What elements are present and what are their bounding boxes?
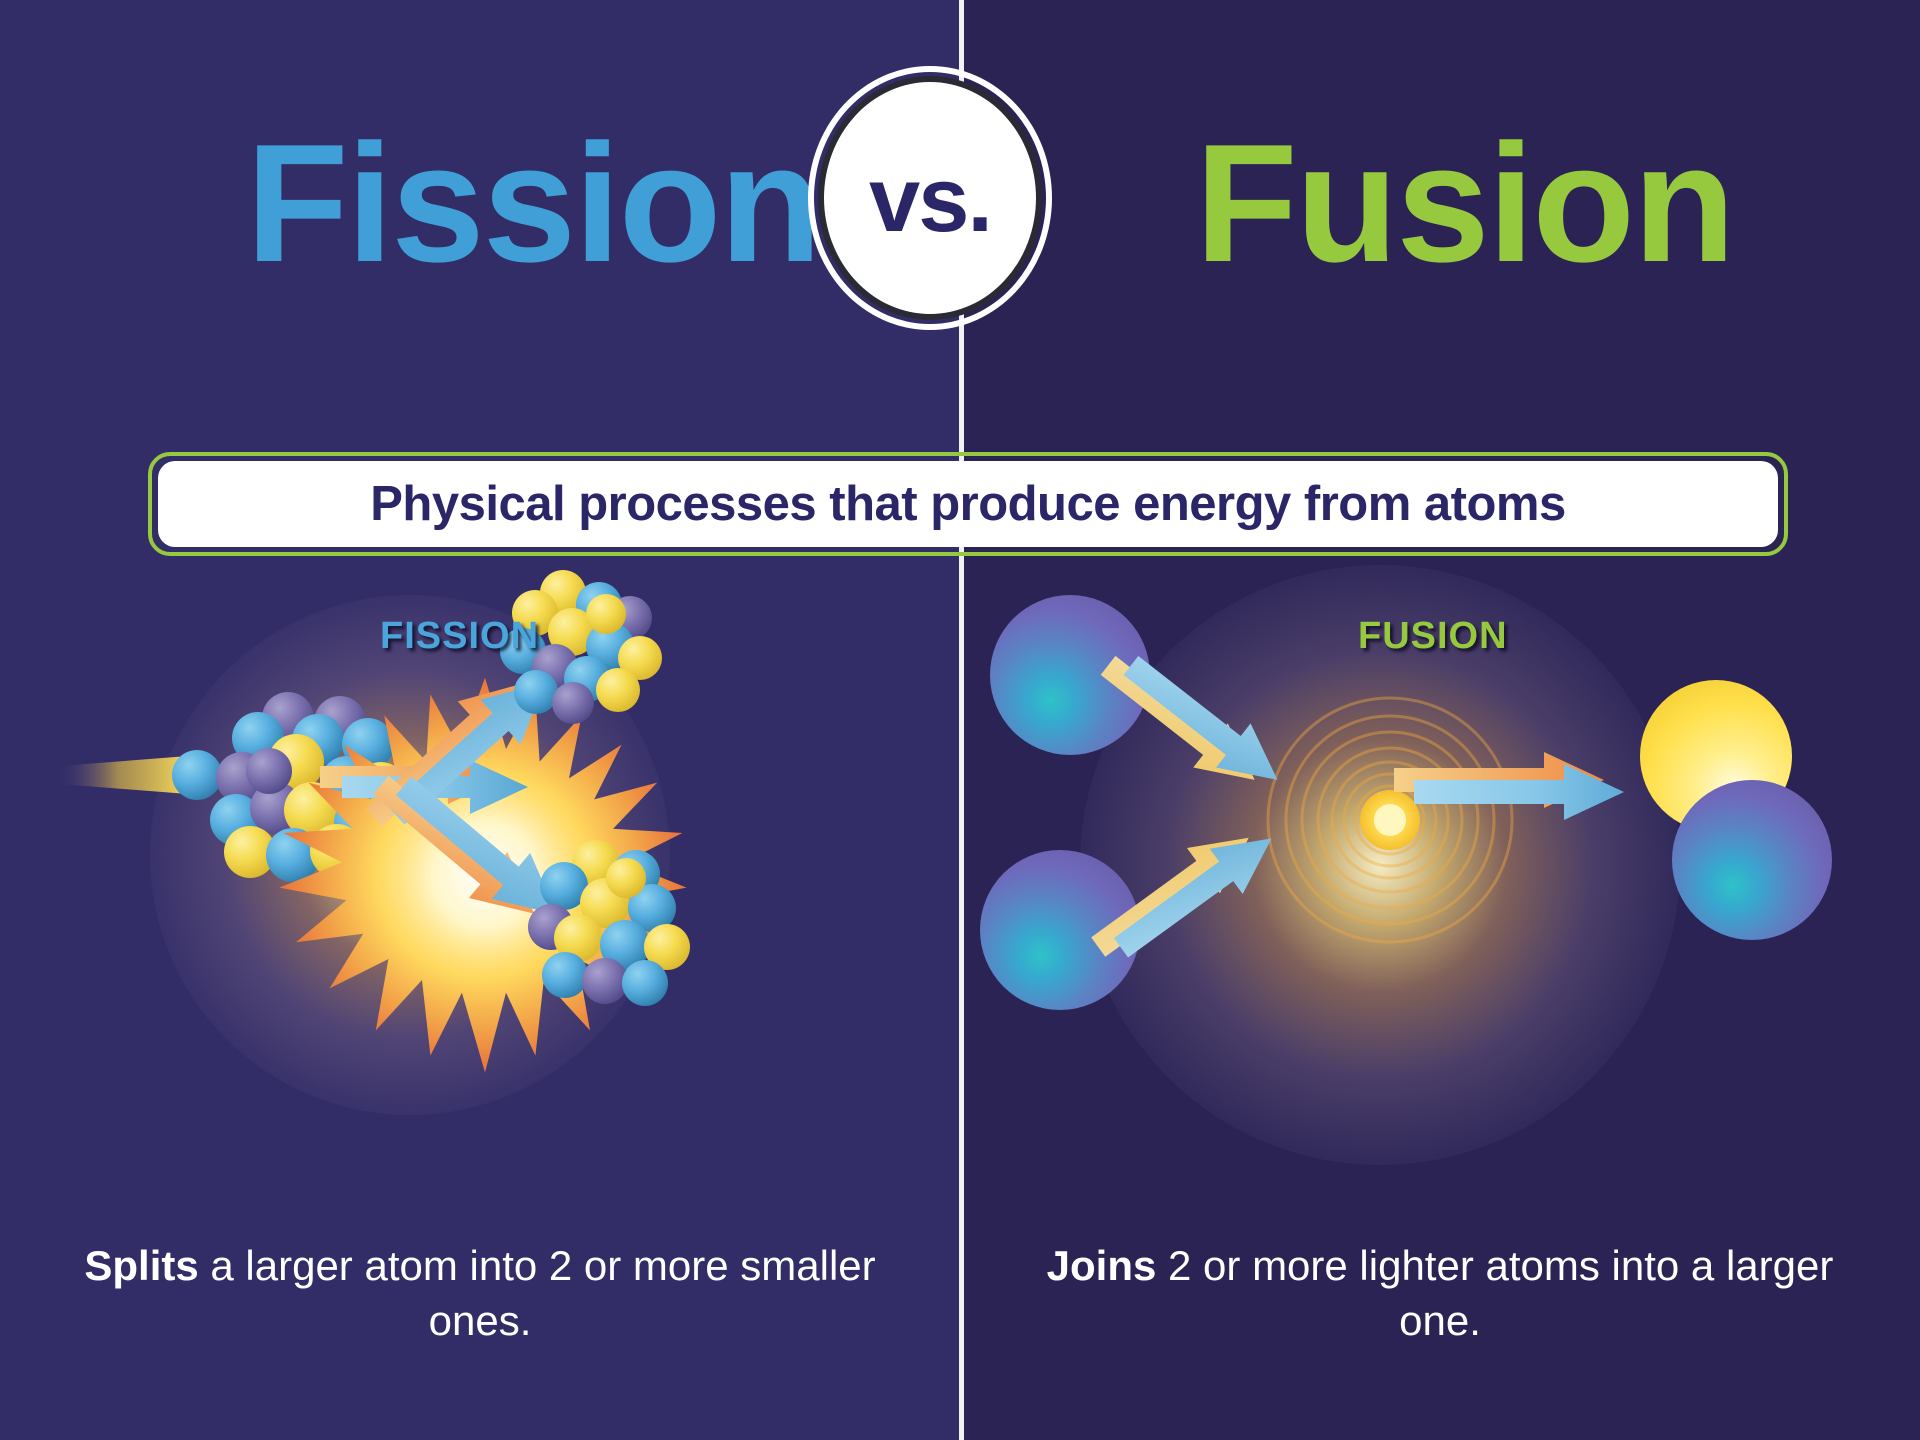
vs-label: vs. — [818, 76, 1042, 320]
neutron-trail — [60, 750, 190, 800]
caption-fission: Splits a larger atom into 2 or more smal… — [50, 1238, 910, 1349]
caption-fusion-rest: 2 or more lighter atoms into a larger on… — [1156, 1242, 1833, 1344]
caption-fusion-lead: Joins — [1047, 1242, 1157, 1289]
arrow-out — [1400, 750, 1650, 830]
subtitle-banner-fill: Physical processes that produce energy f… — [158, 461, 1778, 547]
section-label-fusion: FUSION — [1358, 615, 1508, 658]
section-label-fission: FISSION — [380, 615, 539, 658]
caption-fission-rest: a larger atom into 2 or more smaller one… — [199, 1242, 876, 1344]
subtitle-text: Physical processes that produce energy f… — [370, 476, 1565, 532]
subtitle-banner: Physical processes that produce energy f… — [148, 452, 1788, 556]
arrow-lower-in — [1115, 770, 1395, 1010]
vs-badge: vs. — [808, 66, 1058, 336]
caption-fusion: Joins 2 or more lighter atoms into a lar… — [1010, 1238, 1870, 1349]
product-atom-purple — [1672, 780, 1832, 940]
title-word-fusion: Fusion — [1195, 108, 1734, 298]
nuclear-fusion-diagram — [1000, 640, 1900, 1060]
caption-fission-lead: Splits — [84, 1242, 198, 1289]
daughter-nucleus-lower — [528, 840, 698, 1010]
title-word-fission: Fission — [246, 108, 820, 298]
poster-title: Fission vs. Fusion — [0, 108, 1920, 308]
infographic-poster: Fission vs. Fusion Physical processes th… — [0, 0, 1920, 1440]
nuclear-fission-diagram — [60, 640, 960, 1060]
